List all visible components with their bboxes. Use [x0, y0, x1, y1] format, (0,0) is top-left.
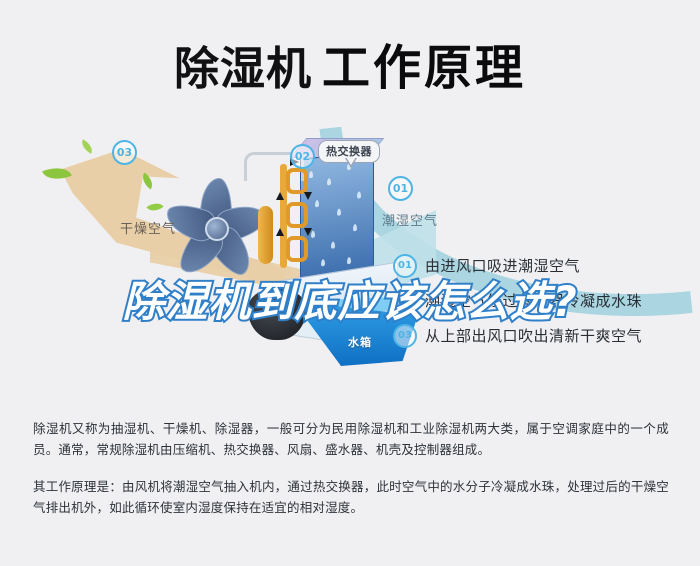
badge-02: 02 [290, 144, 315, 169]
evaporator-fins [300, 148, 374, 284]
leaf-icon [79, 139, 96, 154]
flow-arrow-down-icon [304, 192, 312, 200]
flow-arrow-down-icon [304, 228, 312, 236]
flow-arrow-up-icon [276, 228, 284, 236]
copper-coil [286, 202, 308, 228]
copper-coil [286, 168, 308, 194]
paragraph-2: 其工作原理是：由风机将潮湿空气抽入机内，通过热交换器，此时空气中的水分子冷凝成水… [33, 476, 669, 518]
article-body: 除湿机又称为抽湿机、干燥机、除湿器，一般可分为民用除湿机和工业除湿机两大类，属于… [33, 418, 669, 524]
badge-01: 01 [388, 176, 413, 201]
dry-air-label: 干燥空气 [120, 218, 176, 237]
page-title: 除湿机工作原理 [0, 28, 700, 98]
accumulator-cylinder [258, 206, 273, 264]
overlay-headline: 除湿机到底应该怎么选? [0, 268, 700, 329]
humid-air-label: 潮湿空气 [382, 210, 438, 229]
water-tank-label: 水箱 [348, 334, 372, 350]
paragraph-1: 除湿机又称为抽湿机、干燥机、除湿器，一般可分为民用除湿机和工业除湿机两大类，属于… [33, 418, 669, 460]
condenser-coil-assembly [246, 162, 308, 272]
badge-03: 03 [112, 140, 137, 165]
fan-hub [205, 217, 229, 241]
flow-arrow-up-icon [276, 192, 284, 200]
copper-coil [286, 236, 308, 262]
page-title-part1: 除湿机 [174, 42, 312, 95]
page-title-part2: 工作原理 [322, 40, 526, 96]
callout-pointer-inner-icon [346, 157, 356, 165]
